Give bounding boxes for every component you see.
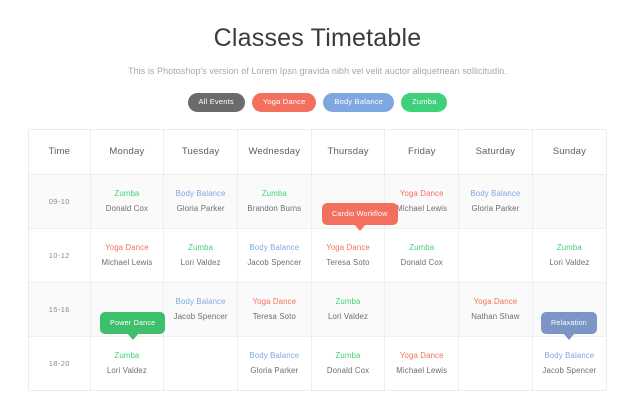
class-entry: Yoga DanceMichael Lewis [385, 337, 458, 390]
timetable-cell-empty [459, 336, 533, 390]
class-entry: ZumbaLori Valdez [164, 229, 237, 282]
time-slot-label: 15-16 [29, 282, 90, 336]
timetable-cell-empty [532, 174, 606, 228]
class-name: Yoga Dance [474, 298, 518, 306]
column-header-tuesday: Tuesday [164, 130, 238, 175]
class-instructor: Lori Valdez [549, 259, 589, 267]
class-instructor: Michael Lewis [101, 259, 152, 267]
class-name: Zumba [409, 244, 434, 252]
class-instructor: Donald Cox [401, 259, 443, 267]
filter-pill-zumba[interactable]: Zumba [401, 93, 447, 112]
page-subtitle: This is Photoshop's version of Lorem Ips… [0, 53, 635, 76]
class-entry: Body BalanceGloria Parker [459, 175, 532, 228]
timetable-row: 10-12Yoga DanceMichael LewisZumbaLori Va… [29, 228, 606, 282]
time-slot-label: 10-12 [29, 228, 90, 282]
column-header-thursday: Thursday [311, 130, 385, 175]
class-name: Zumba [188, 244, 213, 252]
classes-timetable-page: Classes Timetable This is Photoshop's ve… [0, 0, 635, 419]
event-filter-group: All EventsYoga DanceBody BalanceZumba [0, 93, 635, 112]
timetable-cell-class[interactable]: ZumbaLori Valdez [90, 336, 164, 390]
timetable-cell-class[interactable]: ZumbaLori Valdez [532, 228, 606, 282]
class-instructor: Lori Valdez [181, 259, 221, 267]
timetable-cell-class[interactable]: Yoga DanceMichael Lewis [385, 336, 459, 390]
timetable-cell-class[interactable]: Yoga DanceTeresa Soto [237, 282, 311, 336]
filter-pill-yoga-dance[interactable]: Yoga Dance [252, 93, 317, 112]
timetable-cell-class[interactable]: Body BalanceGloria Parker [237, 336, 311, 390]
timetable-cell-empty [164, 336, 238, 390]
class-name: Yoga Dance [105, 244, 149, 252]
timetable-cell-class[interactable]: ZumbaLori Valdez [311, 282, 385, 336]
tooltip-label: Cardio Workflow [332, 209, 388, 218]
class-name: Yoga Dance [252, 298, 296, 306]
class-instructor: Jacob Spencer [542, 367, 596, 375]
class-entry: Yoga DanceNathan Shaw [459, 283, 532, 336]
class-entry: ZumbaDonald Cox [312, 337, 385, 390]
class-instructor: Donald Cox [106, 205, 148, 213]
class-entry: ZumbaLori Valdez [533, 229, 606, 282]
timetable-row: 09-10ZumbaDonald CoxBody BalanceGloria P… [29, 174, 606, 228]
class-instructor: Lori Valdez [328, 313, 368, 321]
class-instructor: Michael Lewis [396, 205, 447, 213]
class-instructor: Gloria Parker [250, 367, 298, 375]
timetable-cell-class[interactable]: Yoga DanceNathan Shaw [459, 282, 533, 336]
class-name: Zumba [262, 190, 287, 198]
tooltip-label: Relaxation [551, 318, 587, 327]
timetable-cell-empty [385, 282, 459, 336]
class-name: Zumba [114, 190, 139, 198]
class-name: Body Balance [544, 352, 594, 360]
class-name: Yoga Dance [400, 352, 444, 360]
timetable-cell-class[interactable]: ZumbaDonald Cox [90, 174, 164, 228]
class-name: Zumba [336, 298, 361, 306]
tooltip-power[interactable]: Power Dance [100, 312, 165, 334]
timetable-header-row: TimeMondayTuesdayWednesdayThursdayFriday… [29, 130, 606, 175]
class-name: Yoga Dance [400, 190, 444, 198]
class-name: Body Balance [176, 190, 226, 198]
class-instructor: Jacob Spencer [247, 259, 301, 267]
class-instructor: Jacob Spencer [174, 313, 228, 321]
class-entry: Body BalanceJacob Spencer [238, 229, 311, 282]
timetable-cell-class[interactable]: ZumbaDonald Cox [311, 336, 385, 390]
page-title: Classes Timetable [0, 0, 635, 53]
filter-pill-all-events[interactable]: All Events [188, 93, 245, 112]
column-header-time: Time [29, 130, 90, 175]
class-entry: ZumbaLori Valdez [91, 337, 164, 390]
timetable-body: 09-10ZumbaDonald CoxBody BalanceGloria P… [29, 174, 606, 390]
class-entry: ZumbaBrandon Burns [238, 175, 311, 228]
filter-pill-body-balance[interactable]: Body Balance [323, 93, 394, 112]
timetable-cell-class[interactable]: Body BalanceGloria Parker [459, 174, 533, 228]
class-instructor: Teresa Soto [326, 259, 369, 267]
column-header-monday: Monday [90, 130, 164, 175]
timetable-row: 18-20ZumbaLori ValdezBody BalanceGloria … [29, 336, 606, 390]
timetable-cell-class[interactable]: Yoga DanceTeresa Soto [311, 228, 385, 282]
class-instructor: Donald Cox [327, 367, 369, 375]
class-name: Body Balance [176, 298, 226, 306]
class-instructor: Brandon Burns [247, 205, 301, 213]
column-header-saturday: Saturday [459, 130, 533, 175]
class-instructor: Michael Lewis [396, 367, 447, 375]
timetable-cell-class[interactable]: Body BalanceJacob Spencer [164, 282, 238, 336]
column-header-wednesday: Wednesday [237, 130, 311, 175]
class-entry: Body BalanceGloria Parker [164, 175, 237, 228]
class-entry: Yoga DanceTeresa Soto [312, 229, 385, 282]
timetable-cell-class[interactable]: Yoga DanceMichael Lewis [90, 228, 164, 282]
timetable-cell-class[interactable]: ZumbaBrandon Burns [237, 174, 311, 228]
class-entry: Body BalanceJacob Spencer [164, 283, 237, 336]
time-slot-label: 09-10 [29, 174, 90, 228]
class-instructor: Gloria Parker [472, 205, 520, 213]
class-entry: Yoga DanceTeresa Soto [238, 283, 311, 336]
class-entry: Yoga DanceMichael Lewis [91, 229, 164, 282]
class-entry: Body BalanceGloria Parker [238, 337, 311, 390]
timetable-cell-class[interactable]: ZumbaDonald Cox [385, 228, 459, 282]
class-name: Zumba [336, 352, 361, 360]
timetable-container: TimeMondayTuesdayWednesdayThursdayFriday… [28, 129, 607, 391]
class-name: Zumba [557, 244, 582, 252]
timetable-head: TimeMondayTuesdayWednesdayThursdayFriday… [29, 130, 606, 175]
class-name: Zumba [114, 352, 139, 360]
class-instructor: Nathan Shaw [471, 313, 519, 321]
tooltip-cardio[interactable]: Cardio Workflow [322, 203, 398, 225]
time-slot-label: 18-20 [29, 336, 90, 390]
timetable-cell-class[interactable]: Body BalanceGloria Parker [164, 174, 238, 228]
class-name: Body Balance [249, 352, 299, 360]
column-header-sunday: Sunday [532, 130, 606, 175]
timetable: TimeMondayTuesdayWednesdayThursdayFriday… [29, 130, 606, 390]
class-entry: Body BalanceJacob Spencer [533, 337, 606, 390]
class-name: Body Balance [470, 190, 520, 198]
class-entry: ZumbaDonald Cox [91, 175, 164, 228]
class-name: Yoga Dance [326, 244, 370, 252]
class-instructor: Gloria Parker [177, 205, 225, 213]
class-instructor: Lori Valdez [107, 367, 147, 375]
timetable-cell-class[interactable]: Body BalanceJacob Spencer [237, 228, 311, 282]
timetable-cell-class[interactable]: Body BalanceJacob Spencer [532, 336, 606, 390]
tooltip-relaxation[interactable]: Relaxation [541, 312, 597, 334]
column-header-friday: Friday [385, 130, 459, 175]
class-entry: ZumbaLori Valdez [312, 283, 385, 336]
class-instructor: Teresa Soto [253, 313, 296, 321]
timetable-cell-class[interactable]: ZumbaLori Valdez [164, 228, 238, 282]
class-entry: ZumbaDonald Cox [385, 229, 458, 282]
timetable-cell-empty [459, 228, 533, 282]
tooltip-label: Power Dance [110, 318, 155, 327]
class-name: Body Balance [249, 244, 299, 252]
